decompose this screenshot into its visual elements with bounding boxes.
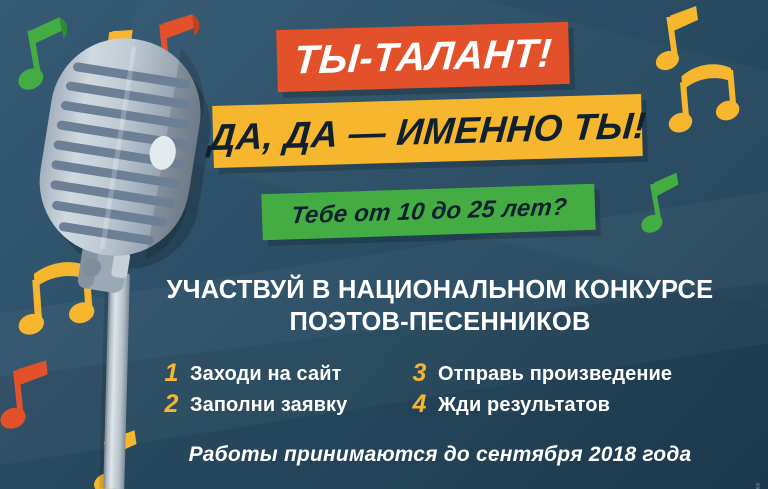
ribbon-talent-text: ТЫ-ТАЛАНТ! [292,33,553,80]
step-item-3: 3 Отправь произведение [410,358,740,389]
music-note-icon [672,62,748,146]
step-number: 4 [410,392,429,417]
step-item-2: 2 Заполни заявку [162,389,410,420]
credit-text: Управление по взаимодействию со СМИ адми… [752,483,766,489]
steps-list: 1 Заходи на сайт 3 Отправь произведение … [162,358,740,420]
headline-line-1: УЧАСТВУЙ В НАЦИОНАЛЬНОМ КОНКУРСЕ [160,275,720,307]
ribbon-age-text: Тебе от 10 до 25 лет? [289,196,567,229]
music-note-icon [146,14,208,88]
step-number: 1 [162,361,181,386]
music-note-icon [640,175,692,237]
ribbon-yes-text: ДА, ДА — ИМЕННО ТЫ! [208,106,648,155]
step-label: Заполни заявку [190,395,347,415]
step-item-4: 4 Жди результатов [410,389,740,420]
deadline-text: Работы принимаются до сентября 2018 года [160,443,720,467]
ribbon-age: Тебе от 10 до 25 лет? [261,184,595,240]
ribbon-yes: ДА, ДА — ИМЕННО ТЫ! [212,94,643,168]
music-note-icon [655,8,713,76]
music-note-icon [14,18,78,94]
music-note-icon [95,28,139,84]
poster-canvas: ТЫ-ТАЛАНТ! ДА, ДА — ИМЕННО ТЫ! Тебе от 1… [0,0,768,489]
step-number: 2 [162,392,181,417]
step-label: Отправь произведение [438,364,672,384]
ribbon-talent: ТЫ-ТАЛАНТ! [276,22,570,92]
headline-line-2: ПОЭТОВ-ПЕСЕННИКОВ [160,307,720,339]
step-item-1: 1 Заходи на сайт [162,358,410,389]
music-note-icon [95,432,153,489]
music-note-icon [2,360,64,436]
music-note-icon [22,258,104,350]
step-number: 3 [410,361,429,386]
step-label: Жди результатов [438,395,610,415]
page-title: УЧАСТВУЙ В НАЦИОНАЛЬНОМ КОНКУРСЕ ПОЭТОВ-… [160,275,720,339]
step-label: Заходи на сайт [190,364,342,384]
